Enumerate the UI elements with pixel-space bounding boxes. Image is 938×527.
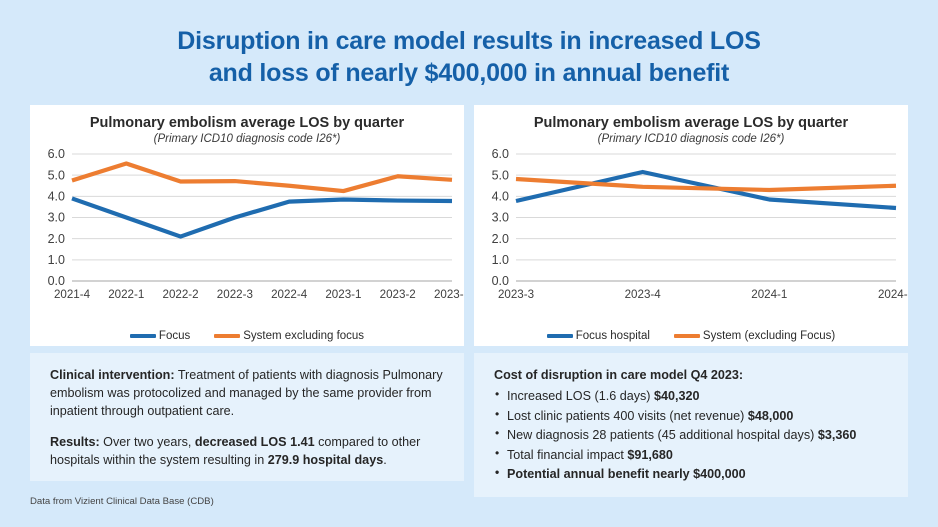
legend-item-focus-hospital[interactable]: Focus hospital bbox=[547, 330, 650, 342]
line-chart-right: 6.05.04.03.02.01.00.02023-32023-42024-12… bbox=[474, 146, 908, 311]
legend-swatch-system-excluding-focus-icon bbox=[674, 334, 700, 338]
x-tick-label: 2023-3 bbox=[434, 288, 464, 301]
legend-label-system-excluding-focus: System (excluding Focus) bbox=[703, 330, 835, 342]
legend-item-system[interactable]: System excluding focus bbox=[214, 330, 364, 342]
intervention-label: Clinical intervention: bbox=[50, 368, 175, 382]
y-tick-label: 4.0 bbox=[492, 190, 509, 204]
clinical-intervention-card: Clinical intervention: Treatment of pati… bbox=[30, 353, 464, 481]
x-tick-label: 2022-4 bbox=[271, 288, 308, 301]
slide-root: Disruption in care model results in incr… bbox=[0, 0, 938, 527]
right-column: Pulmonary embolism average LOS by quarte… bbox=[474, 105, 908, 497]
page-title-line1: Disruption in care model results in incr… bbox=[177, 27, 760, 55]
list-item: Lost clinic patients 400 visits (net rev… bbox=[494, 407, 892, 425]
series-line bbox=[72, 164, 452, 192]
intervention-paragraph: Clinical intervention: Treatment of pati… bbox=[50, 367, 448, 421]
x-tick-label: 2022-3 bbox=[217, 288, 253, 301]
bullet-text: Potential annual benefit nearly $400,000 bbox=[507, 467, 746, 481]
list-item: New diagnosis 28 patients (45 additional… bbox=[494, 426, 892, 444]
paragraph-spacer bbox=[50, 421, 448, 434]
x-tick-label: 2022-2 bbox=[163, 288, 199, 301]
chart-title-left: Pulmonary embolism average LOS by quarte… bbox=[30, 105, 464, 132]
legend-label-system: System excluding focus bbox=[243, 330, 364, 342]
x-tick-label: 2024-1 bbox=[751, 288, 787, 301]
bullet-text: Lost clinic patients 400 visits (net rev… bbox=[507, 409, 748, 423]
results-bold-1: decreased LOS 1.41 bbox=[195, 435, 315, 449]
plot-area-left: 6.05.04.03.02.01.00.02021-42022-12022-22… bbox=[30, 146, 464, 311]
y-tick-label: 6.0 bbox=[48, 148, 65, 162]
legend-item-system-excluding-focus[interactable]: System (excluding Focus) bbox=[674, 330, 835, 342]
x-tick-label: 2024-2 bbox=[878, 288, 908, 301]
y-tick-label: 3.0 bbox=[492, 211, 509, 225]
bullet-amount: $48,000 bbox=[748, 409, 794, 423]
x-tick-label: 2023-2 bbox=[380, 288, 416, 301]
results-text-3: . bbox=[383, 453, 387, 467]
y-tick-label: 0.0 bbox=[492, 275, 509, 289]
y-tick-label: 5.0 bbox=[48, 169, 65, 183]
legend-label-focus: Focus bbox=[159, 330, 190, 342]
legend-label-focus-hospital: Focus hospital bbox=[576, 330, 650, 342]
chart-legend-right: Focus hospital System (excluding Focus) bbox=[474, 330, 908, 342]
chart-title-right: Pulmonary embolism average LOS by quarte… bbox=[474, 105, 908, 132]
legend-swatch-focus-icon bbox=[130, 334, 156, 338]
results-text-1: Over two years, bbox=[100, 435, 195, 449]
left-column: Pulmonary embolism average LOS by quarte… bbox=[30, 105, 464, 481]
x-tick-label: 2023-4 bbox=[625, 288, 662, 301]
y-tick-label: 6.0 bbox=[492, 148, 509, 162]
legend-swatch-focus-hospital-icon bbox=[547, 334, 573, 338]
page-title: Disruption in care model results in incr… bbox=[0, 26, 938, 89]
cost-of-disruption-card: Cost of disruption in care model Q4 2023… bbox=[474, 353, 908, 497]
y-tick-label: 5.0 bbox=[492, 169, 509, 183]
legend-swatch-system-icon bbox=[214, 334, 240, 338]
cost-heading: Cost of disruption in care model Q4 2023… bbox=[494, 367, 892, 385]
x-tick-label: 2023-3 bbox=[498, 288, 534, 301]
bullet-text: New diagnosis 28 patients (45 additional… bbox=[507, 428, 818, 442]
results-paragraph: Results: Over two years, decreased LOS 1… bbox=[50, 434, 448, 470]
x-tick-label: 2022-1 bbox=[108, 288, 144, 301]
page-title-line2: and loss of nearly $400,000 in annual be… bbox=[0, 58, 938, 90]
y-tick-label: 1.0 bbox=[48, 254, 65, 268]
chart-subtitle-left: (Primary ICD10 diagnosis code I26*) bbox=[30, 133, 464, 147]
y-tick-label: 3.0 bbox=[48, 211, 65, 225]
list-item: Increased LOS (1.6 days) $40,320 bbox=[494, 387, 892, 405]
y-tick-label: 2.0 bbox=[492, 232, 509, 246]
y-tick-label: 4.0 bbox=[48, 190, 65, 204]
chart-card-right: Pulmonary embolism average LOS by quarte… bbox=[474, 105, 908, 346]
line-chart-left: 6.05.04.03.02.01.00.02021-42022-12022-22… bbox=[30, 146, 464, 311]
cost-heading-text: Cost of disruption in care model Q4 2023… bbox=[494, 368, 743, 382]
x-tick-label: 2023-1 bbox=[325, 288, 361, 301]
plot-area-right: 6.05.04.03.02.01.00.02023-32023-42024-12… bbox=[474, 146, 908, 311]
legend-item-focus[interactable]: Focus bbox=[130, 330, 190, 342]
results-label: Results: bbox=[50, 435, 100, 449]
bullet-amount: $40,320 bbox=[654, 389, 700, 403]
chart-legend-left: Focus System excluding focus bbox=[30, 330, 464, 342]
chart-subtitle-right: (Primary ICD10 diagnosis code I26*) bbox=[474, 133, 908, 147]
bullet-text: Total financial impact bbox=[507, 448, 627, 462]
list-item: Total financial impact $91,680 bbox=[494, 446, 892, 464]
bullet-amount: $3,360 bbox=[818, 428, 857, 442]
y-tick-label: 1.0 bbox=[492, 254, 509, 268]
chart-card-left: Pulmonary embolism average LOS by quarte… bbox=[30, 105, 464, 346]
x-tick-label: 2021-4 bbox=[54, 288, 91, 301]
y-tick-label: 0.0 bbox=[48, 275, 65, 289]
cost-bullet-list: Increased LOS (1.6 days) $40,320Lost cli… bbox=[494, 387, 892, 484]
data-source-footnote: Data from Vizient Clinical Data Base (CD… bbox=[30, 496, 214, 507]
bullet-amount: $91,680 bbox=[627, 448, 673, 462]
results-bold-2: 279.9 hospital days bbox=[268, 453, 384, 467]
bullet-text: Increased LOS (1.6 days) bbox=[507, 389, 654, 403]
y-tick-label: 2.0 bbox=[48, 232, 65, 246]
list-item: Potential annual benefit nearly $400,000 bbox=[494, 465, 892, 483]
